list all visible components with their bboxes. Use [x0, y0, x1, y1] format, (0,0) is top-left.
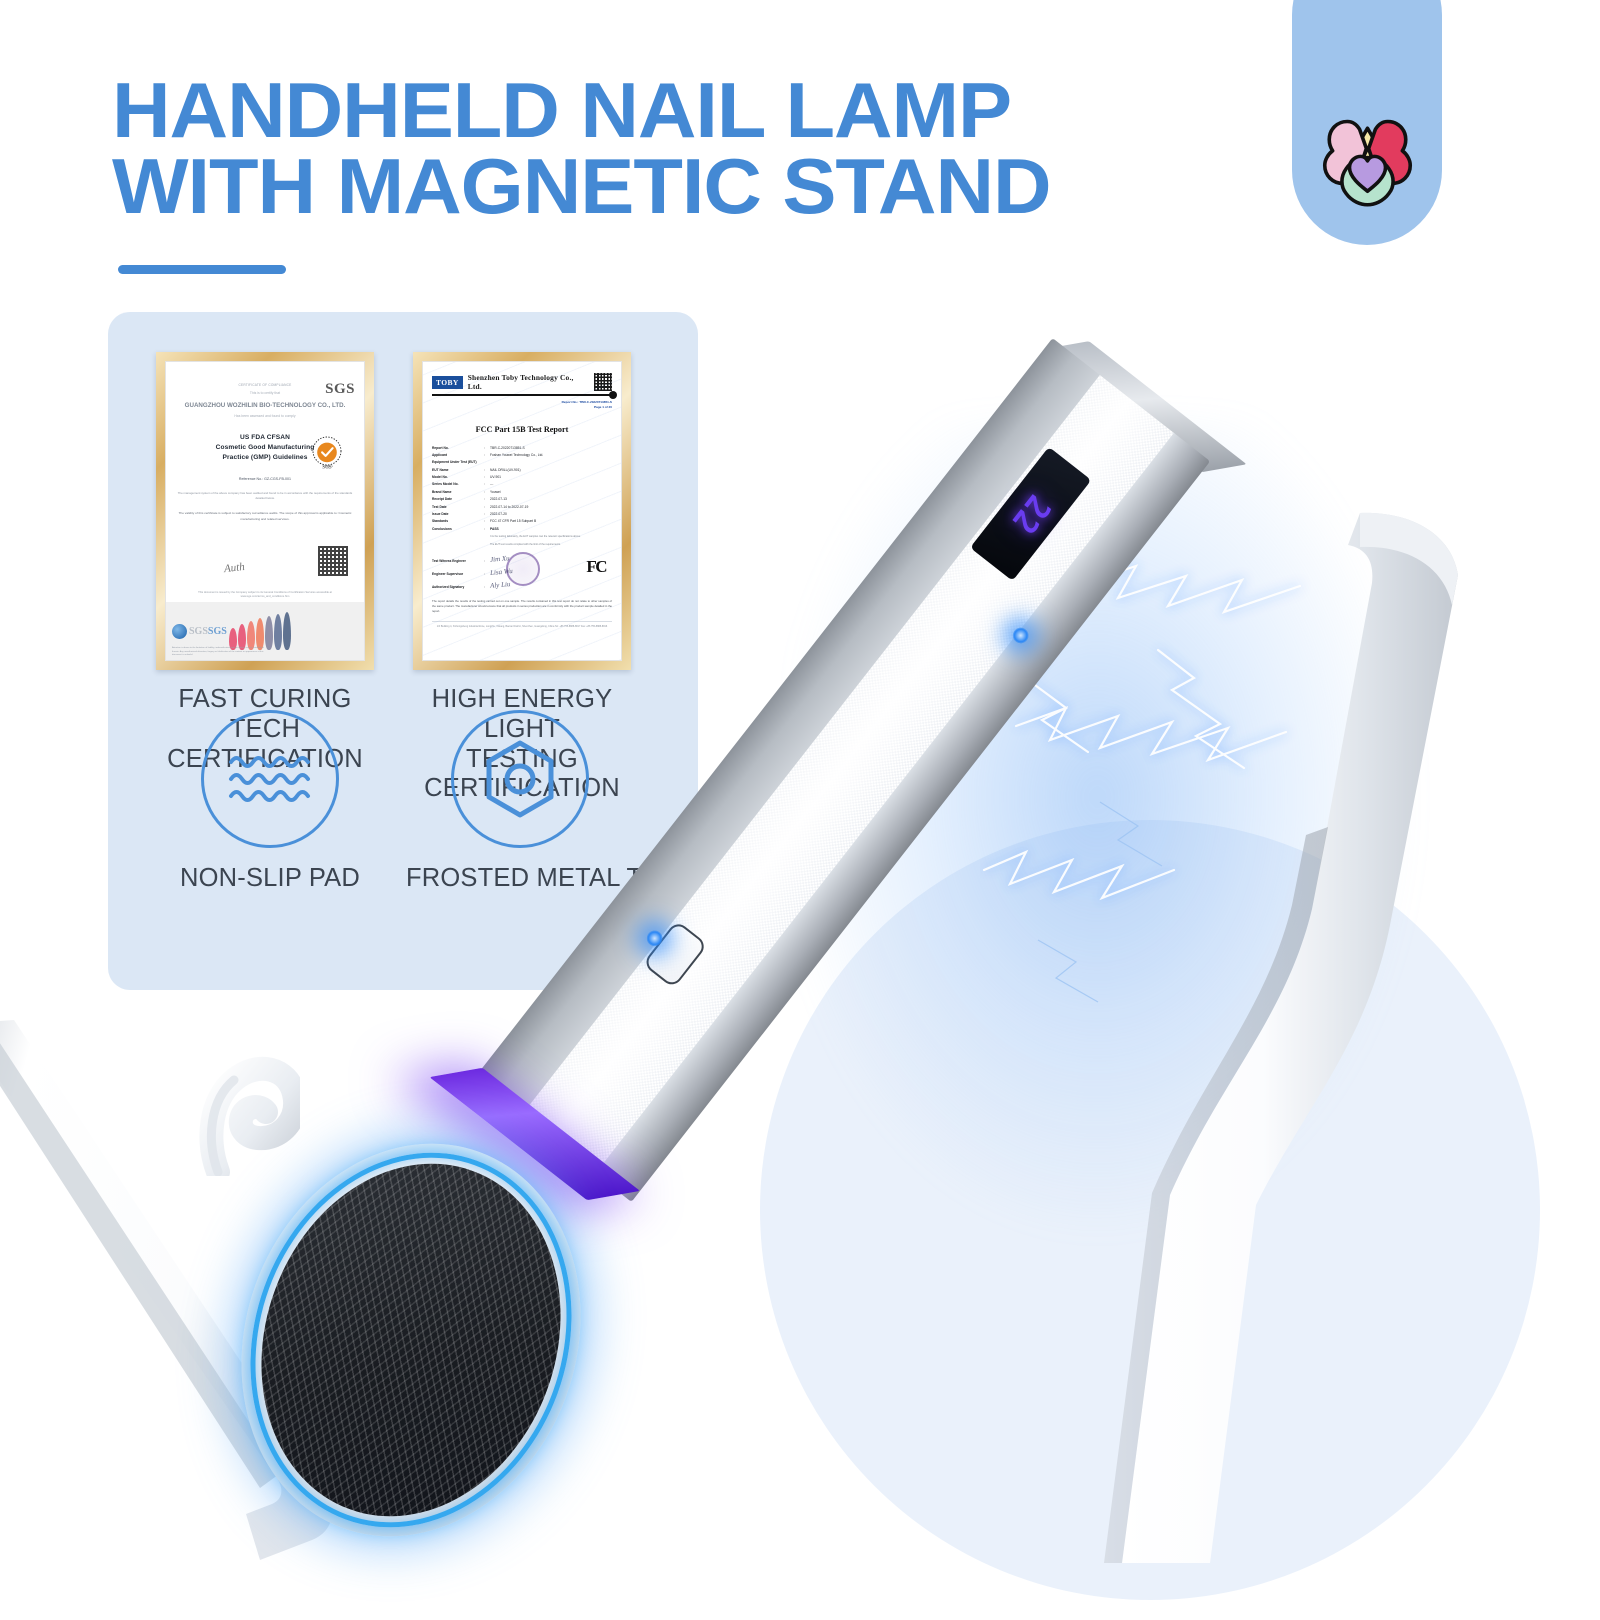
field-key: Standards: [432, 519, 484, 523]
report-qr-code: [594, 373, 612, 391]
sgs-legal-text: Attention is drawn to the limitation of …: [172, 647, 264, 658]
page-title: HANDHELD NAIL LAMP WITH MAGNETIC STAND: [112, 72, 1252, 225]
sgs-qr-code: [318, 546, 348, 576]
sgs-ghost-figures-icon: [229, 612, 291, 650]
title-line-1: HANDHELD NAIL LAMP: [112, 72, 1298, 148]
field-value: Youwei: [490, 490, 612, 494]
report-row: Applicant : Foshan Youwei Technology Co.…: [432, 453, 612, 457]
report-row: Model No. : UV-901: [432, 475, 612, 479]
sgs-ref-2: Has been assessed and found to comply: [175, 414, 355, 419]
field-key: Test Date: [432, 505, 484, 509]
report-field-table: Report No. : TBR-C-20220713851-S Applica…: [432, 446, 612, 531]
field-value: UV-901: [490, 475, 612, 479]
sgs-ref-1: Reference No.: GZ-CGS-FB-001: [175, 477, 355, 483]
report-header: TOBY Shenzhen Toby Technology Co., Ltd.: [432, 370, 612, 391]
certificate-document-fcc: TOBY Shenzhen Toby Technology Co., Ltd. …: [422, 361, 622, 661]
title-underline-rule: [118, 265, 286, 274]
report-row: Equipment Under Test (EUT): [432, 460, 612, 464]
report-row: Report No. : TBR-C-20220713851-S: [432, 446, 612, 450]
sgs-company: GUANGZHOU WOZHILIN BIO-TECHNOLOGY CO., L…: [175, 401, 355, 410]
report-company: Shenzhen Toby Technology Co., Ltd.: [468, 373, 589, 391]
report-disclaimer: The report details the results of the te…: [432, 599, 612, 615]
report-signature-block: FC Test Witness Engineer : Jim Xu Engine…: [432, 555, 612, 589]
fcc-mark-icon: FC: [586, 557, 606, 577]
flower-hearts-logo-icon: [1300, 90, 1435, 225]
report-page-label: Page 1 of 20: [432, 405, 612, 410]
report-footer: 1/F Building 4, Xinhongsheng Industrial …: [432, 621, 612, 629]
certificate-document-sgs: SGS CERTIFICATE OF COMPLIANCE This is to…: [165, 361, 365, 661]
lcd-timer-value: 22: [1004, 487, 1058, 541]
field-key: Receipt Date: [432, 497, 484, 501]
field-value: Foshan Youwei Technology Co., Ltd.: [490, 453, 612, 457]
field-value: 2022-07-20: [490, 512, 612, 516]
base-hook-loop-icon: [192, 1056, 300, 1176]
field-value: TBR-C-20220713851-S: [490, 446, 612, 450]
feature-frosted-metal-texture: FROSTED METAL TEXTURE: [410, 710, 630, 893]
feature-label: NON-SLIP PAD: [160, 864, 380, 893]
signature-role: Engineer Supervisor: [432, 572, 484, 576]
certificate-frame: SGS CERTIFICATE OF COMPLIANCE This is to…: [156, 352, 374, 670]
sgs-brand-label: SGS: [325, 381, 355, 398]
report-row: Standards : FCC 47 CFR Part 15 Subpart B: [432, 519, 612, 523]
sgs-paragraph: The validity of this certificate is subj…: [175, 511, 355, 522]
globe-icon: [172, 624, 187, 639]
field-value: FCC 47 CFR Part 15 Subpart B: [490, 519, 612, 523]
report-row: Receipt Date : 2022-07-13: [432, 497, 612, 501]
report-note-1: It is the testing laboratory, the EUT sa…: [490, 535, 612, 539]
field-key: Brand Name: [432, 490, 484, 494]
field-key: Series Model No.: [432, 482, 484, 486]
field-key: Model No.: [432, 475, 484, 479]
title-line-2: WITH MAGNETIC STAND: [112, 148, 1298, 224]
svg-text:SGS: SGS: [322, 466, 332, 471]
field-key: Report No.: [432, 446, 484, 450]
report-divider: [432, 394, 612, 396]
field-value-conclusion: PASS: [490, 527, 612, 531]
report-row: EUT Name : NAIL DRILL(UV-901): [432, 468, 612, 472]
field-value: 2022-07-13: [490, 497, 612, 501]
certificate-frame: TOBY Shenzhen Toby Technology Co., Ltd. …: [413, 352, 631, 670]
report-row: Conclusions : PASS: [432, 527, 612, 531]
field-value: 2022-07-14 to 2022-07-19: [490, 505, 612, 509]
field-key: Conclusions: [432, 527, 484, 531]
report-title: FCC Part 15B Test Report: [432, 425, 612, 434]
signature-mark: Jim Xu: [490, 554, 510, 564]
toby-logo: TOBY: [432, 376, 463, 389]
report-row: Issue Date : 2022-07-20: [432, 512, 612, 516]
field-key: Applicant: [432, 453, 484, 457]
field-value: NAIL DRILL(UV-901): [490, 468, 612, 472]
sgs-footer-text: This document is issued by the Company s…: [175, 591, 355, 600]
product-photo-lamp-on-stand: 22: [730, 280, 1600, 1610]
field-key: EUT Name: [432, 468, 484, 472]
field-key: Issue Date: [432, 512, 484, 516]
sgs-signature: Auth: [223, 561, 245, 575]
feature-icon-frame: [201, 710, 339, 848]
sgs-strip-word-1: SGS: [189, 626, 208, 637]
sgs-body-text: The management system of the above compa…: [175, 491, 355, 501]
report-row: Series Model No. : ---: [432, 482, 612, 486]
non-slip-magnetic-base-photo: [0, 1020, 700, 1620]
field-key: Equipment Under Test (EUT): [432, 460, 477, 464]
infographic-canvas: HANDHELD NAIL LAMP WITH MAGNETIC STAND S…: [0, 0, 1600, 1600]
report-row: Test Date : 2022-07-14 to 2022-07-19: [432, 505, 612, 509]
signature-mark: Aly Liu: [490, 580, 511, 590]
signature-role: Test Witness Engineer: [432, 559, 484, 563]
wavy-lines-icon: [227, 750, 313, 808]
hexagon-nut-icon: [478, 737, 562, 821]
feature-label: FROSTED METAL TEXTURE: [406, 864, 630, 893]
sgs-strip-word-2: SGS: [208, 626, 227, 637]
report-row: Brand Name : Youwei: [432, 490, 612, 494]
feature-non-slip-pad: NON-SLIP PAD: [160, 710, 380, 893]
field-value: ---: [490, 482, 612, 486]
sgs-seal-icon: SGS: [306, 430, 348, 472]
feature-icon-frame: [451, 710, 589, 848]
signature-mark: Lisa Wu: [490, 567, 513, 577]
certification-panel: SGS CERTIFICATE OF COMPLIANCE This is to…: [108, 312, 698, 990]
report-note-2: The EUT test results complied with the l…: [490, 543, 612, 547]
signature-role: Authorized Signatory: [432, 585, 484, 589]
